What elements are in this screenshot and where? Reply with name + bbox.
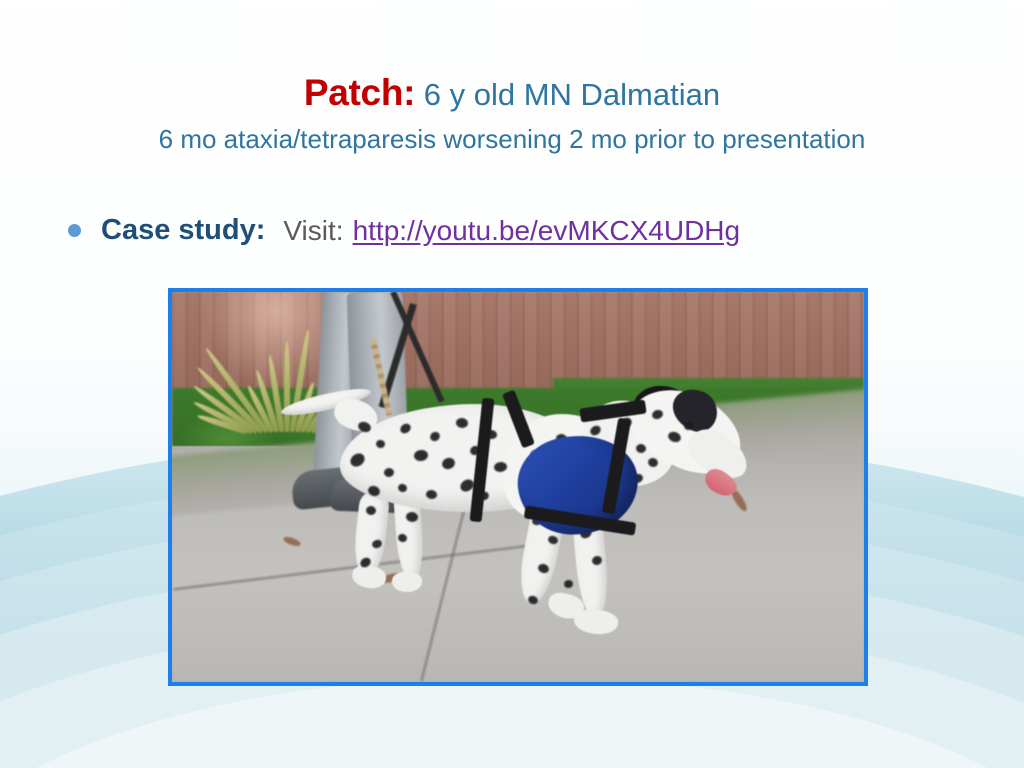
patient-signalment: 6 y old MN Dalmatian xyxy=(415,77,720,112)
patient-history: 6 mo ataxia/tetraparesis worsening 2 mo … xyxy=(0,124,1024,154)
dalmatian-dog xyxy=(280,388,740,678)
title-line-primary: Patch: 6 y old MN Dalmatian xyxy=(0,72,1024,115)
slide-title-block: Patch: 6 y old MN Dalmatian 6 mo ataxia/… xyxy=(0,72,1024,154)
patient-name: Patch: xyxy=(304,72,415,113)
dog-hind-leg xyxy=(352,491,391,578)
photo-scene xyxy=(172,292,864,682)
bullet-dot-icon xyxy=(68,224,81,237)
case-video-thumbnail[interactable] xyxy=(168,288,868,686)
dog-coat-spot xyxy=(564,579,574,588)
dog-paw xyxy=(350,563,387,591)
youtube-video-link[interactable]: http://youtu.be/evMKCX4UDHg xyxy=(353,215,741,247)
dog-paw xyxy=(392,572,422,592)
case-study-bullet-row: Case study: Visit: http://youtu.be/evMKC… xyxy=(68,214,740,247)
case-study-label: Case study: xyxy=(101,214,265,247)
visit-label: Visit: xyxy=(283,215,343,247)
background-arc-band xyxy=(0,676,1024,768)
dog-paw xyxy=(573,608,619,636)
slide-canvas: Patch: 6 y old MN Dalmatian 6 mo ataxia/… xyxy=(0,0,1024,768)
